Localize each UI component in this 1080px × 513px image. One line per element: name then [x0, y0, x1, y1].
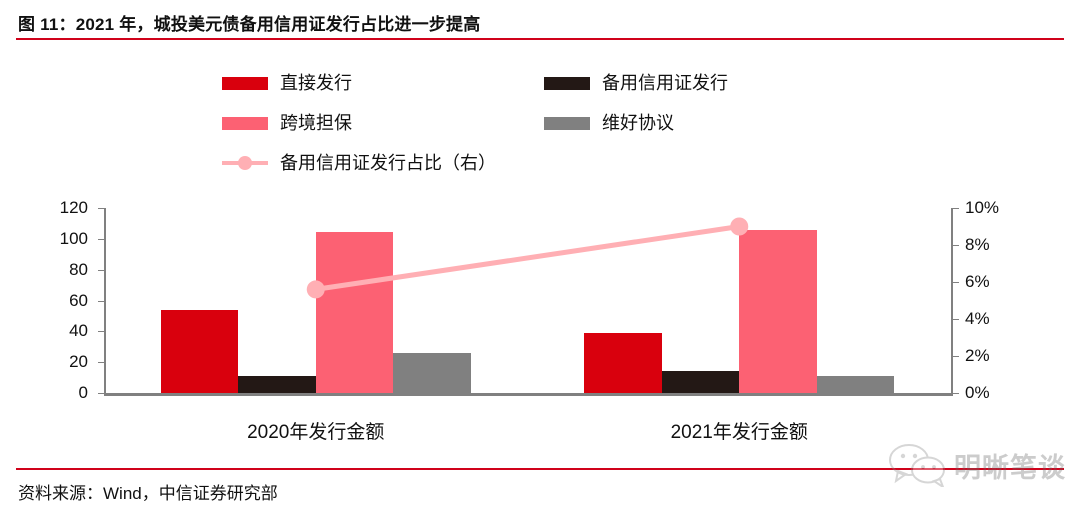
y-axis-right-tick	[953, 319, 959, 320]
y-axis-right-tick	[953, 208, 959, 209]
y-axis-left-tick-label: 0	[42, 384, 88, 401]
legend-label-cross-border-guarantee: 跨境担保	[280, 114, 352, 132]
x-axis-category-label: 2021年发行金额	[599, 417, 879, 444]
legend-item-sblc-share[interactable]: 备用信用证发行占比（右）	[222, 154, 496, 172]
legend-item-keepwell[interactable]: 维好协议	[544, 114, 674, 132]
legend-swatch-cross-border-guarantee	[222, 117, 268, 130]
title-divider	[16, 38, 1064, 40]
y-axis-right	[951, 208, 953, 395]
legend-swatch-direct-issue	[222, 77, 268, 90]
legend-item-sblc-issue[interactable]: 备用信用证发行	[544, 74, 728, 92]
legend-label-keepwell: 维好协议	[602, 114, 674, 132]
legend-label-sblc-issue: 备用信用证发行	[602, 74, 728, 92]
y-axis-right-tick	[953, 282, 959, 283]
bar-2-cat-2	[662, 371, 740, 393]
line-marker-1	[307, 280, 325, 298]
y-axis-right-tick	[953, 356, 959, 357]
y-axis-right-tick	[953, 393, 959, 394]
legend-swatch-sblc-issue	[544, 77, 590, 90]
bar-1-cat-2	[584, 333, 662, 393]
legend-line-marker	[238, 156, 252, 170]
y-axis-left-tick	[98, 208, 104, 209]
y-axis-right-tick	[953, 245, 959, 246]
y-axis-right-tick-label: 4%	[965, 310, 1025, 327]
y-axis-left-tick-label: 20	[42, 353, 88, 370]
bar-3-cat-1	[316, 232, 394, 393]
watermark-text: 明晰笔谈	[954, 446, 1066, 485]
page-title: 图 11：2021 年，城投美元债备用信用证发行占比进一步提高	[18, 10, 480, 35]
legend-item-direct-issue[interactable]: 直接发行	[222, 74, 352, 92]
x-axis	[104, 393, 953, 396]
x-axis-category-label: 2020年发行金额	[176, 417, 456, 444]
y-axis-right-tick-label: 6%	[965, 273, 1025, 290]
y-axis-right-tick-label: 2%	[965, 347, 1025, 364]
y-axis-left	[104, 208, 106, 395]
line-path	[316, 227, 740, 290]
y-axis-left-tick	[98, 331, 104, 332]
bar-1-cat-1	[161, 310, 239, 393]
y-axis-left-tick	[98, 393, 104, 394]
bar-2-cat-1	[238, 376, 316, 393]
y-axis-left-tick	[98, 239, 104, 240]
legend-label-sblc-share: 备用信用证发行占比（右）	[280, 154, 496, 172]
source-note: 资料来源：Wind，中信证券研究部	[18, 479, 278, 504]
y-axis-left-tick	[98, 301, 104, 302]
y-axis-left-tick-label: 40	[42, 322, 88, 339]
bar-3-cat-2	[739, 230, 817, 393]
legend-label-direct-issue: 直接发行	[280, 74, 352, 92]
y-axis-right-tick-label: 10%	[965, 199, 1025, 216]
legend-item-cross-border-guarantee[interactable]: 跨境担保	[222, 114, 352, 132]
legend-swatch-keepwell	[544, 117, 590, 130]
y-axis-left-tick-label: 80	[42, 261, 88, 278]
legend-swatch-sblc-share	[222, 156, 268, 170]
y-axis-right-tick-label: 8%	[965, 236, 1025, 253]
line-marker-2	[730, 218, 748, 236]
y-axis-left-tick	[98, 362, 104, 363]
wechat-icon	[888, 443, 950, 487]
y-axis-right-tick-label: 0%	[965, 384, 1025, 401]
y-axis-left-tick-label: 60	[42, 292, 88, 309]
bar-4-cat-1	[393, 353, 471, 393]
y-axis-left-tick-label: 120	[42, 199, 88, 216]
y-axis-left-tick	[98, 270, 104, 271]
chart-legend: 直接发行 备用信用证发行 跨境担保 维好协议 备用信用证发行占比（右）	[222, 72, 822, 182]
bar-4-cat-2	[817, 376, 895, 393]
watermark: 明晰笔谈	[888, 434, 1068, 496]
y-axis-left-tick-label: 100	[42, 230, 88, 247]
